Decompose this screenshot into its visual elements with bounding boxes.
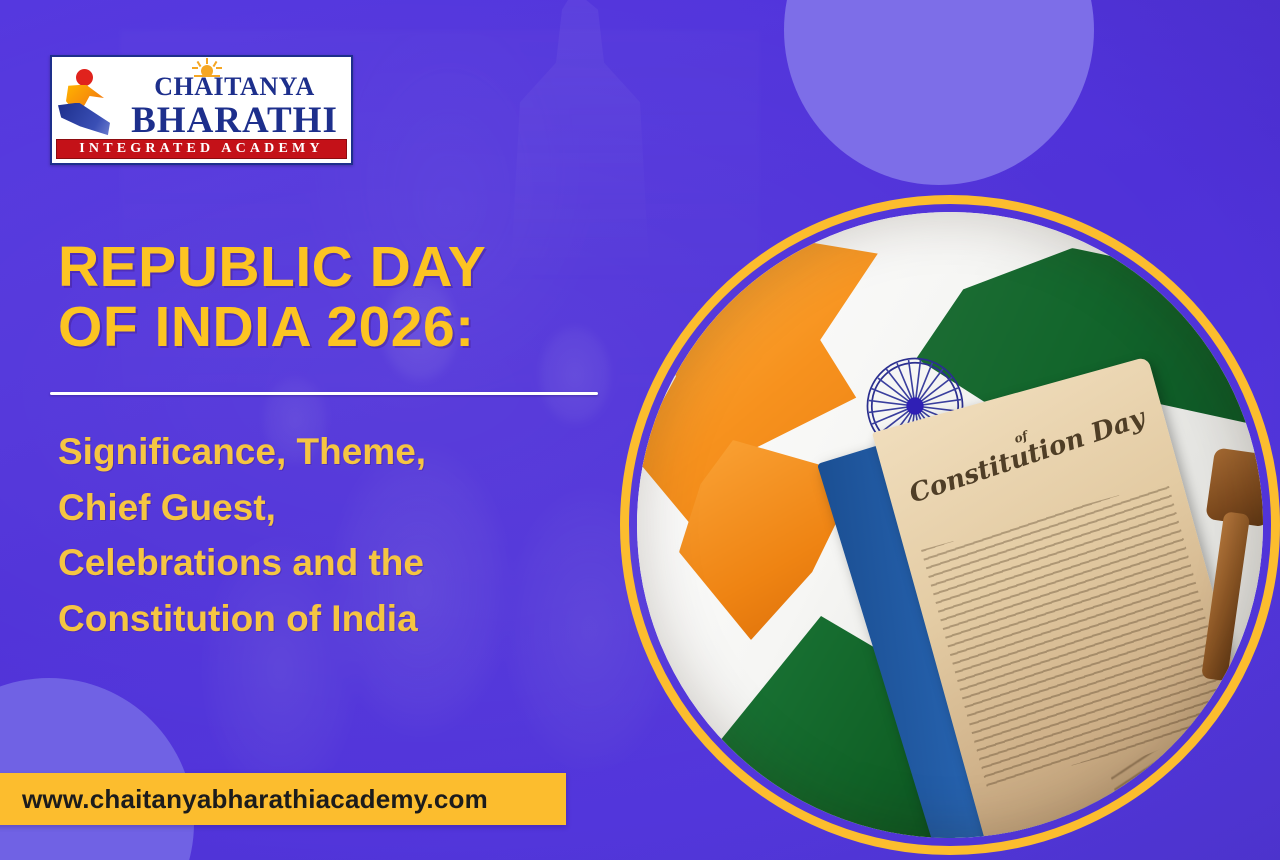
headline-line-1: REPUBLIC DAY <box>58 235 486 299</box>
subhead-line-3: Celebrations and the <box>58 542 424 583</box>
subhead-line-4: Constitution of India <box>58 598 418 639</box>
logo-tagline-bar: INTEGRATED ACADEMY <box>56 139 347 159</box>
logo-red-dot-icon <box>76 69 93 86</box>
title-divider <box>50 392 598 395</box>
brand-logo[interactable]: CHAITANYA BHARATHI INTEGRATED ACADEMY <box>50 55 353 165</box>
logo-blue-swoosh-icon <box>58 103 110 137</box>
headline-line-2: OF INDIA 2026: <box>58 295 475 359</box>
hero-photo-ring: of Constitution Day <box>620 195 1280 855</box>
subhead-line-1: Significance, Theme, <box>58 431 426 472</box>
logo-tagline-text: INTEGRATED ACADEMY <box>79 141 324 157</box>
website-url-text: www.chaitanyabharathiacademy.com <box>22 784 488 815</box>
page-subtitle: Significance, Theme, Chief Guest, Celebr… <box>58 424 618 646</box>
sunrise-icon <box>190 58 224 78</box>
hero-photo: of Constitution Day <box>637 212 1263 838</box>
logo-wordmark: CHAITANYA BHARATHI <box>120 60 347 139</box>
parchment-heading-main: Constitution Day <box>906 403 1149 510</box>
logo-top-row: CHAITANYA BHARATHI <box>56 60 347 139</box>
website-url-bar[interactable]: www.chaitanyabharathiacademy.com <box>0 773 566 825</box>
gavel-handle <box>1201 511 1250 681</box>
page-title: REPUBLIC DAY OF INDIA 2026: <box>58 238 658 358</box>
logo-line-chaitanya: CHAITANYA <box>122 74 347 100</box>
subhead-line-2: Chief Guest, <box>58 487 276 528</box>
flame-figure-icon <box>56 63 116 137</box>
poster-canvas: CHAITANYA BHARATHI INTEGRATED ACADEMY RE… <box>0 0 1280 860</box>
logo-line-bharathi: BHARATHI <box>122 102 347 139</box>
